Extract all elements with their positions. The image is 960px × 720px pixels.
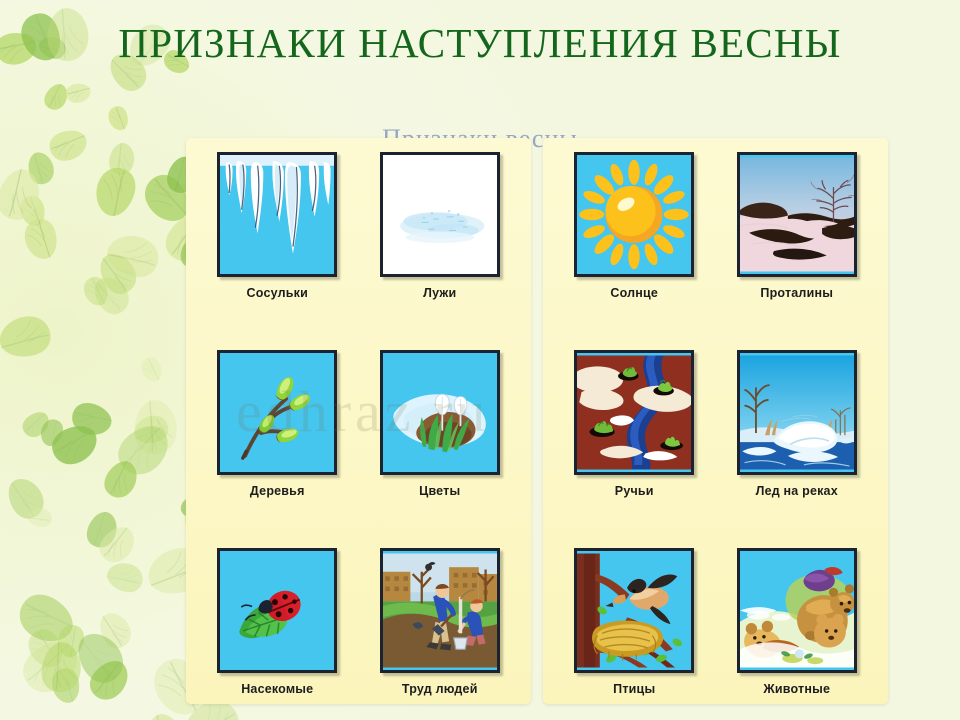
right-panel: Солнце bbox=[543, 138, 888, 704]
card-caption: Сосульки bbox=[247, 286, 308, 300]
spring-sign-card[interactable]: Сосульки bbox=[211, 152, 343, 300]
card-caption: Птицы bbox=[613, 682, 655, 696]
spring-sign-card[interactable]: Деревья bbox=[211, 350, 343, 498]
card-caption: Цветы bbox=[419, 484, 460, 498]
page-title: ПРИЗНАКИ НАСТУПЛЕНИЯ ВЕСНЫ bbox=[0, 18, 960, 68]
spring-sign-card[interactable]: Солнце bbox=[568, 152, 700, 300]
sun-icon bbox=[574, 152, 694, 277]
thawed-patches-icon bbox=[737, 152, 857, 277]
card-caption: Ручьи bbox=[615, 484, 654, 498]
spring-sign-card[interactable]: Лед на реках bbox=[731, 350, 863, 498]
leaf-icon bbox=[22, 216, 58, 261]
card-row: Сосульки Лужи bbox=[196, 152, 521, 300]
river-ice-icon bbox=[737, 350, 857, 475]
leaf-icon bbox=[84, 159, 146, 225]
spring-sign-card[interactable]: Ручьи bbox=[568, 350, 700, 498]
card-row: Ручьи bbox=[553, 350, 878, 498]
spring-sign-card[interactable]: Труд людей bbox=[374, 548, 506, 696]
spring-sign-card[interactable]: Насекомые bbox=[211, 548, 343, 696]
left-panel: Сосульки Лужи bbox=[186, 138, 531, 704]
card-caption: Проталины bbox=[760, 286, 833, 300]
bear-family-icon bbox=[737, 548, 857, 673]
ladybug-icon bbox=[217, 548, 337, 673]
people-planting-icon bbox=[380, 548, 500, 673]
signs-of-spring-board: Сосульки Лужи bbox=[186, 138, 888, 704]
puddle-icon bbox=[380, 152, 500, 277]
card-caption: Насекомые bbox=[241, 682, 313, 696]
spring-sign-card[interactable]: Цветы bbox=[374, 350, 506, 498]
card-caption: Лужи bbox=[423, 286, 456, 300]
card-row: Деревья bbox=[196, 350, 521, 498]
card-caption: Труд людей bbox=[402, 682, 478, 696]
spring-sign-card[interactable]: Животные bbox=[731, 548, 863, 696]
spring-sign-card[interactable]: Проталины bbox=[731, 152, 863, 300]
leaf-icon bbox=[0, 313, 54, 359]
card-caption: Деревья bbox=[250, 484, 305, 498]
snowdrops-icon bbox=[380, 350, 500, 475]
bird-nest-icon bbox=[574, 548, 694, 673]
card-caption: Лед на реках bbox=[756, 484, 838, 498]
leaf-icon bbox=[140, 355, 164, 384]
icicles-icon bbox=[217, 152, 337, 277]
budding-branch-icon bbox=[217, 350, 337, 475]
leaf-icon bbox=[64, 82, 92, 105]
card-row: Солнце bbox=[553, 152, 878, 300]
card-row: Насекомые bbox=[196, 548, 521, 696]
card-row: Птицы bbox=[553, 548, 878, 696]
card-caption: Животные bbox=[763, 682, 830, 696]
streams-icon bbox=[574, 350, 694, 475]
card-caption: Солнце bbox=[610, 286, 658, 300]
spring-sign-card[interactable]: Птицы bbox=[568, 548, 700, 696]
spring-sign-card[interactable]: Лужи bbox=[374, 152, 506, 300]
